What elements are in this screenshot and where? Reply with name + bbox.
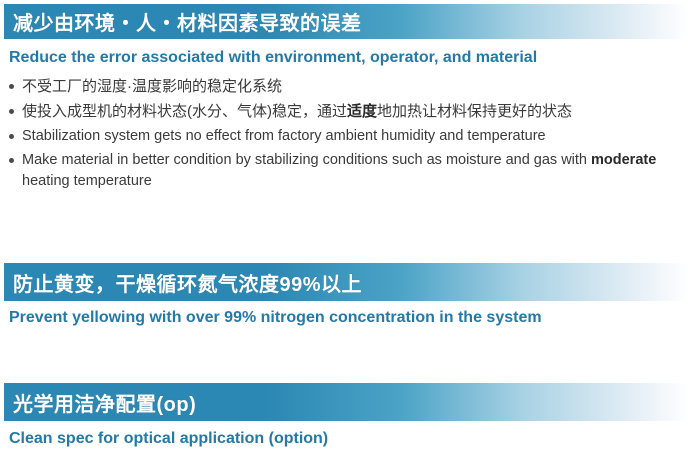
section-banner-2: 防止黄变，干燥循环氮气浓度99%以上 (4, 263, 688, 301)
bullet-run: Stabilization system gets no effect from… (22, 128, 546, 144)
section-banner-title-3: 光学用洁净配置(op) (4, 388, 196, 417)
bullet-dot-icon (9, 109, 14, 114)
bullet-text: 不受工厂的湿度·温度影响的稳定化系统 (22, 78, 282, 95)
bullet-item: Stabilization system gets no effect from… (8, 126, 680, 147)
section-banner-title-1: 减少由环境・人・材料因素导致的误差 (4, 7, 362, 36)
bullet-run: 不受工厂的湿度·温度影响的稳定化系统 (22, 78, 282, 95)
bullet-run: 地加热让材料保持更好的状态 (377, 103, 572, 120)
bullet-run: heating temperature (22, 173, 152, 189)
bullet-text: 使投入成型机的材料状态(水分、气体)稳定，通过适度地加热让材料保持更好的状态 (22, 103, 572, 120)
feature-bullet-list-1: 不受工厂的湿度·温度影响的稳定化系统使投入成型机的材料状态(水分、气体)稳定，通… (8, 76, 680, 195)
bullet-item: 不受工厂的湿度·温度影响的稳定化系统 (8, 76, 680, 98)
bullet-emphasis: moderate (591, 152, 656, 168)
section-subheading-1: Reduce the error associated with environ… (9, 49, 537, 67)
bullet-item: Make material in better condition by sta… (8, 150, 680, 192)
bullet-text: Make material in better condition by sta… (22, 152, 656, 189)
bullet-emphasis: 适度 (347, 103, 377, 120)
bullet-text: Stabilization system gets no effect from… (22, 128, 546, 144)
section-banner-1: 减少由环境・人・材料因素导致的误差 (4, 4, 688, 39)
bullet-dot-icon (9, 134, 14, 139)
section-subheading-2: Prevent yellowing with over 99% nitrogen… (9, 309, 542, 327)
bullet-run: Make material in better condition by sta… (22, 152, 591, 168)
bullet-run: 使投入成型机的材料状态(水分、气体)稳定，通过 (22, 103, 347, 120)
section-subheading-3: Clean spec for optical application (opti… (9, 430, 328, 448)
slide-content: 减少由环境・人・材料因素导致的误差 Reduce the error assoc… (0, 0, 688, 468)
section-banner-3: 光学用洁净配置(op) (4, 383, 688, 421)
bullet-dot-icon (9, 84, 14, 89)
bullet-dot-icon (9, 158, 14, 163)
section-banner-title-2: 防止黄变，干燥循环氮气浓度99%以上 (4, 268, 362, 297)
bullet-item: 使投入成型机的材料状态(水分、气体)稳定，通过适度地加热让材料保持更好的状态 (8, 101, 680, 123)
